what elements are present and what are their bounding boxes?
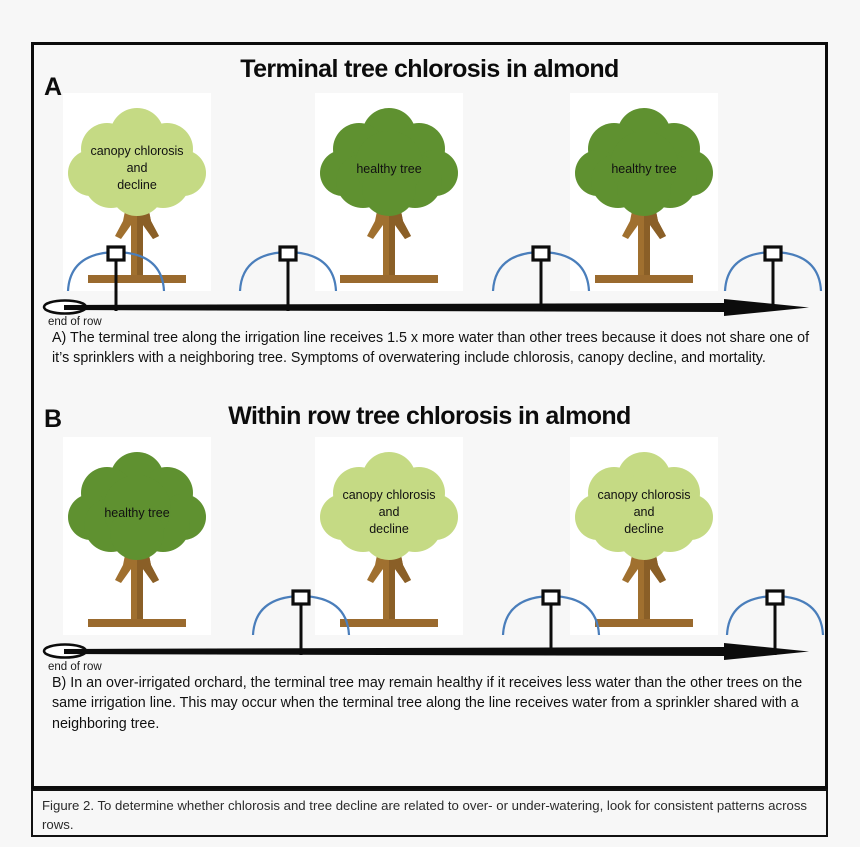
figure-caption-box: Figure 2. To determine whether chlorosis…: [31, 789, 828, 837]
panel-a-caption: A) The terminal tree along the irrigatio…: [52, 328, 814, 369]
irrigation-line-a: [34, 295, 825, 321]
irrigation-arrow: [64, 643, 809, 660]
figure-caption-text: Figure 2. To determine whether chlorosis…: [42, 796, 817, 834]
irrigation-arrow: [64, 299, 809, 316]
panel-a-title: Terminal tree chlorosis in almond: [34, 57, 825, 82]
figure-frame: A Terminal tree chlorosis in almond: [31, 42, 828, 789]
orchard-scene-b: healthy tree: [34, 437, 825, 657]
irrigation-line-b: [34, 639, 825, 665]
panel-b-caption: B) In an over-irrigated orchard, the ter…: [52, 673, 814, 734]
end-of-row-label: end of row: [48, 662, 102, 674]
panel-a: A Terminal tree chlorosis in almond: [34, 45, 825, 390]
end-of-row-label: end of row: [48, 317, 102, 329]
orchard-scene-a: canopy chlorosis and decline: [34, 93, 825, 313]
tree-card: [63, 437, 211, 635]
panel-b: B Within row tree chlorosis in almond: [34, 390, 825, 735]
panel-b-title: Within row tree chlorosis in almond: [34, 404, 825, 429]
